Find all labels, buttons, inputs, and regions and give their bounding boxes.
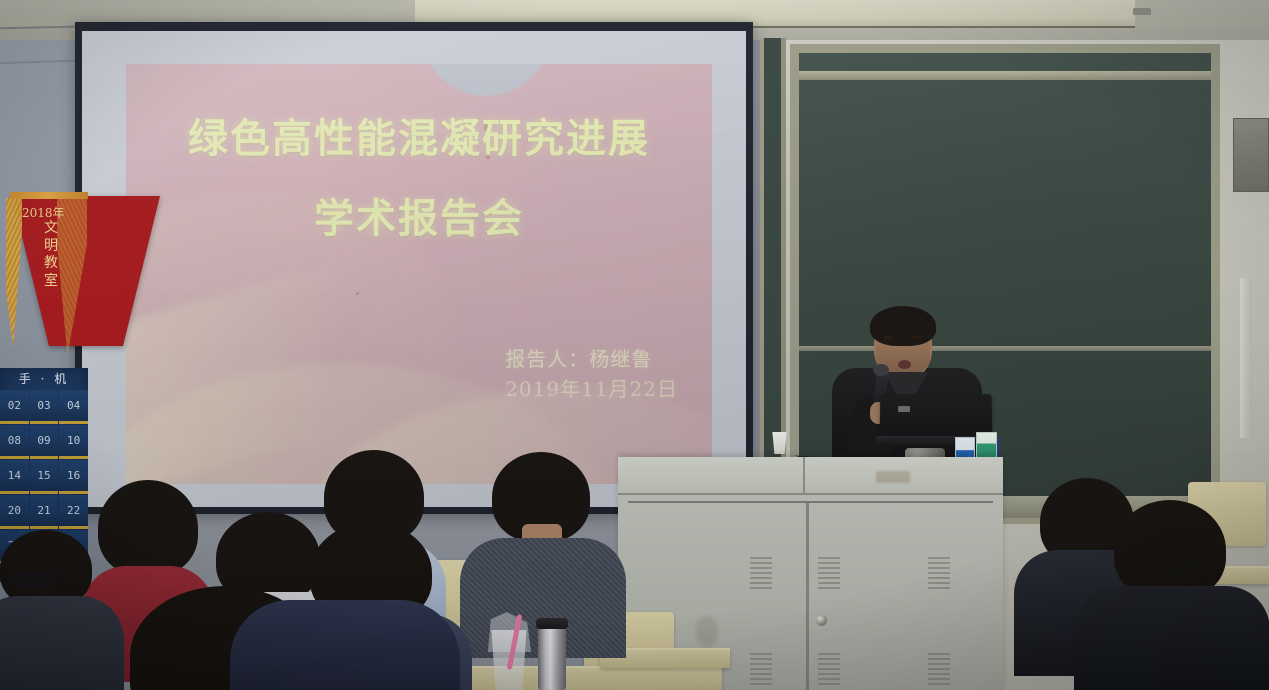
- presenter-eye-right: [912, 336, 922, 339]
- glasses-icon: [6, 574, 52, 587]
- audience-hair: [98, 480, 198, 576]
- laptop-logo: [898, 406, 910, 412]
- audience-right-puffer-2: [1084, 500, 1252, 690]
- thermos-cap: [536, 618, 568, 629]
- audience-jacket: [230, 600, 460, 690]
- podium-worktop: [618, 457, 1003, 495]
- phone-pocket: 08: [0, 425, 29, 459]
- podium-vent-2: [818, 557, 840, 591]
- desk-center: [432, 666, 722, 690]
- slide-presenter-label: 报告人：杨继鲁: [505, 344, 678, 374]
- podium-door-line: [628, 501, 993, 503]
- slide-arc-decoration: [421, 64, 551, 96]
- audience-jacket: [1074, 586, 1269, 690]
- podium-vent-4: [750, 653, 772, 687]
- podium-vent-5: [818, 653, 840, 687]
- podium-top-seam: [803, 457, 805, 493]
- pennant-year-text: 2018年: [22, 204, 84, 221]
- slide-byline: 报告人：杨继鲁 2019年11月22日: [505, 344, 678, 404]
- podium-vent-6: [928, 653, 950, 687]
- phone-pocket: 04: [59, 390, 88, 424]
- phone-pocket: 10: [59, 425, 88, 459]
- audience-foreground-dark-coat: [230, 600, 460, 690]
- blackboard-top-rail: [799, 71, 1211, 80]
- blackboard-side-panel: [760, 38, 786, 468]
- stainless-thermos: [538, 622, 566, 690]
- phone-pocket: 14: [0, 460, 29, 494]
- podium-vent-1: [750, 557, 772, 591]
- pennant-char-1: 文: [40, 220, 62, 238]
- phone-pocket: 22: [59, 495, 88, 529]
- slide-title-line-1: 绿色高性能混凝研究进展: [126, 106, 712, 164]
- phone-pocket: 03: [30, 390, 59, 424]
- slide-title-line-2: 学术报告会: [126, 186, 712, 244]
- pennant-char-4: 室: [40, 273, 62, 291]
- lecture-hall-photo: 绿色高性能混凝研究进展 学术报告会 报告人：杨继鲁 2019年11月22日 20…: [0, 0, 1269, 690]
- presentation-slide: 绿色高性能混凝研究进展 学术报告会 报告人：杨继鲁 2019年11月22日: [126, 64, 712, 484]
- microphone-head: [873, 364, 889, 376]
- audience-left-glasses: [0, 530, 112, 690]
- honor-pennant: 2018年 文 明 教 室: [2, 188, 90, 358]
- podium-label-residue: [876, 471, 910, 483]
- wall-pipe: [1240, 278, 1252, 438]
- screen-blemish-3: [356, 292, 359, 295]
- podium-stain: [696, 617, 718, 647]
- podium-door-split: [806, 503, 809, 690]
- audience-jacket: [0, 596, 124, 690]
- audience-hair: [1114, 500, 1226, 600]
- screen-case-tab: [1133, 8, 1151, 15]
- phone-pocket: 15: [30, 460, 59, 494]
- podium-vent-3: [928, 557, 950, 591]
- phone-pocket: 09: [30, 425, 59, 459]
- phone-pocket: 02: [0, 390, 29, 424]
- wall-speaker-box: [1233, 118, 1269, 192]
- pocket-chart-header: 手 · 机: [0, 370, 88, 388]
- audience-tweed-blazer: [474, 452, 606, 612]
- presenter-eye-left: [884, 336, 894, 339]
- pennant-char-3: 教: [40, 255, 62, 273]
- phone-pocket: 21: [30, 495, 59, 529]
- projection-screen: 绿色高性能混凝研究进展 学术报告会 报告人：杨继鲁 2019年11月22日: [75, 22, 753, 514]
- pennant-char-2: 明: [40, 238, 62, 256]
- slide-date: 2019年11月22日: [505, 374, 678, 404]
- pennant-top-bar: [10, 192, 88, 199]
- presenter-mouth: [898, 360, 911, 369]
- phone-pocket: 16: [59, 460, 88, 494]
- podium-lock: [816, 615, 827, 626]
- phone-pocket: 20: [0, 495, 29, 529]
- pennant-vertical-text: 文 明 教 室: [40, 220, 62, 290]
